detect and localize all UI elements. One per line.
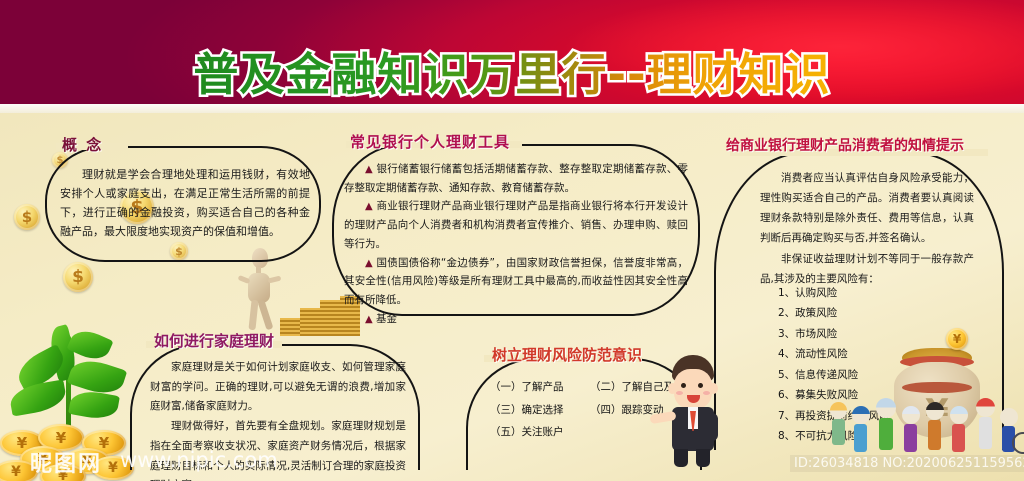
bank-tools-body: ▲ 银行储蓄银行储蓄包括活期储蓄存款、整存整取定期储蓄存款、零存整取定期储蓄存款… [344,160,688,329]
poster-canvas: 普及金融知识万里行--理财知识 普及金融知识万里行--理财知识 $ $ $ $ … [0,0,1024,481]
consumer-notice-paragraph-1: 消费者应当认真评估自身风险承受能力，理性购买适合自己的产品。消费者要认真阅读理财… [760,168,974,249]
risk-item: 2、政策风险 [778,303,978,323]
awareness-row: （一）了解产品 （二）了解自己及家庭 [490,376,700,399]
bank-tools-item-4: ▲ 基金 [344,310,688,329]
concept-paragraph: 理财就是学会合理地处理和运用钱财，有效地安排个人或家庭支出，在满足正常生活所需的… [60,166,310,242]
consumer-notice-title: 给商业银行理财产品消费者的知情提示 [726,135,964,155]
risk-item: 6、募集失败风险 [778,385,978,405]
poster-title: 普及金融知识万里行--理财知识 普及金融知识万里行--理财知识 [0,38,1024,103]
awareness-item: （一）了解产品 [490,376,590,399]
bank-tools-item-1: ▲ 银行储蓄银行储蓄包括活期储蓄存款、整存整取定期储蓄存款、零存整取定期储蓄存款… [344,160,688,197]
watermark-url: www.nipic.com [120,448,278,472]
risk-item: 4、流动性风险 [778,344,978,364]
bank-tools-item-4-text: 基金 [376,313,397,325]
awareness-item: （二）了解自己及家庭 [590,376,695,399]
image-id-text: ID:26034818 NO:20200625115956239000 [790,455,1024,472]
bullet-triangle-icon: ▲ [365,201,373,212]
bank-tools-item-2-text: 商业银行理财产品商业银行理财产品是指商业银行将本行开发设计的理财产品向个人消费者… [344,200,688,249]
risk-item: 8、不可抗力风险 [778,426,978,446]
risk-item: 5、信息传递风险 [778,365,978,385]
risk-awareness-title: 树立理财风险防范意识 [492,344,642,365]
bullet-triangle-icon: ▲ [365,164,373,175]
watermark-cn: 昵图网 [30,446,102,478]
risk-item: 1、认购风险 [778,283,978,303]
bullet-triangle-icon: ▲ [365,314,373,325]
concept-body: 理财就是学会合理地处理和运用钱财，有效地安排个人或家庭支出，在满足正常生活所需的… [60,166,310,242]
risk-item: 7、再投资提前终止风险 [778,406,978,426]
bank-tools-item-1-text: 银行储蓄银行储蓄包括活期储蓄存款、整存整取定期储蓄存款、零存整取定期储蓄存款、通… [344,163,688,194]
concept-title: 概 念 [62,134,103,155]
family-finance-title: 如何进行家庭理财 [154,330,274,351]
bank-tools-title: 常见银行个人理财工具 [350,131,510,152]
awareness-item: （三）确定选择 [490,399,590,422]
bank-tools-item-3-text: 国债国债俗称“金边债券”，由国家财政信誉担保，信誉度非常高，其安全性(信用风险)… [344,257,688,306]
bullet-triangle-icon: ▲ [365,258,373,269]
awareness-row: （三）确定选择 （四）跟踪变动 [490,399,700,422]
header-divider [0,104,1024,113]
family-finance-paragraph-1: 家庭理财是关于如何计划家庭收支、如何管理家庭财富的学问。正确的理财,可以避免无谓… [150,358,406,417]
risk-awareness-list: （一）了解产品 （二）了解自己及家庭 （三）确定选择 （四）跟踪变动 （五）关注… [490,376,700,444]
bank-tools-item-3: ▲ 国债国债俗称“金边债券”，由国家财政信誉担保，信誉度非常高，其安全性(信用风… [344,254,688,310]
awareness-row: （五）关注账户 [490,421,700,444]
bank-tools-item-2: ▲ 商业银行理财产品商业银行理财产品是指商业银行将本行开发设计的理财产品向个人消… [344,197,688,253]
awareness-item: （四）跟踪变动 [590,399,664,422]
risk-item: 3、市场风险 [778,324,978,344]
risk-list: 1、认购风险 2、政策风险 3、市场风险 4、流动性风险 5、信息传递风险 6、… [778,283,978,447]
consumer-notice-body: 消费者应当认真评估自身风险承受能力，理性购买适合自己的产品。消费者要认真阅读理财… [760,168,974,289]
awareness-item: （五）关注账户 [490,421,590,444]
poster-title-fill: 普及金融知识万里行--理财知识 [193,48,830,101]
